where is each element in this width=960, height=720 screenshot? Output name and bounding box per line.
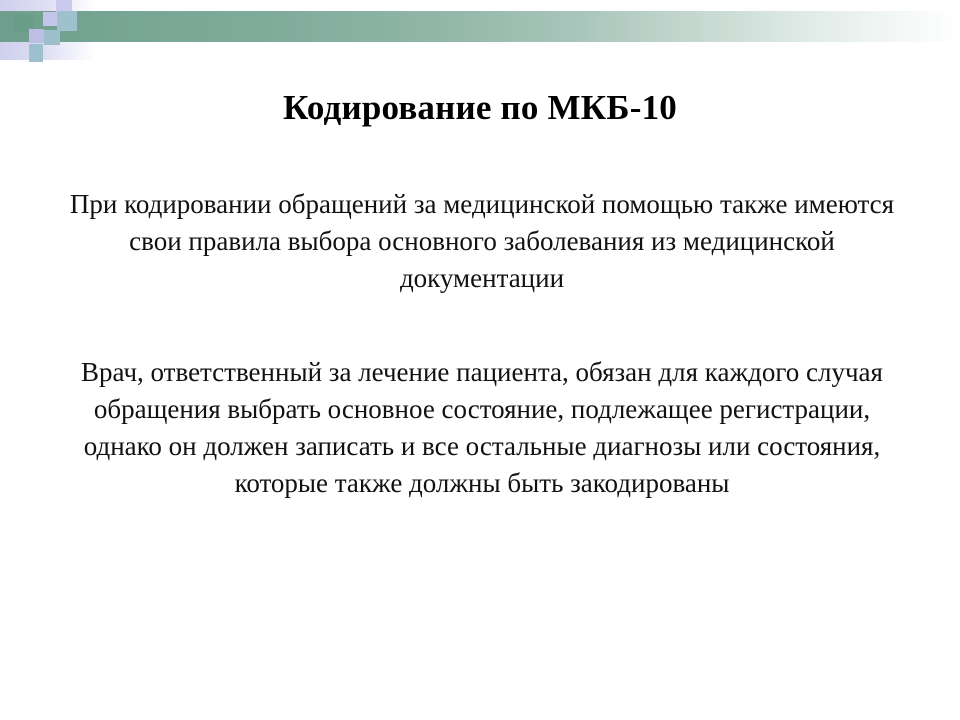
body-paragraph-1: При кодировании обращений за медицинской… bbox=[64, 186, 900, 297]
tile-lavender-mid bbox=[29, 29, 44, 43]
tile-teal-mid bbox=[44, 30, 60, 45]
gradient-bar bbox=[0, 11, 960, 42]
body-paragraph-2: Врач, ответственный за лечение пациента,… bbox=[64, 354, 900, 502]
tile-lavender-upper bbox=[43, 12, 57, 26]
body-text-block: При кодировании обращений за медицинской… bbox=[64, 186, 900, 502]
slide-root: Кодирование по МКБ-10 При кодировании об… bbox=[0, 0, 960, 720]
mosaic-header-band bbox=[0, 0, 960, 72]
tile-teal-low bbox=[29, 44, 43, 62]
tile-teal-upper bbox=[57, 11, 77, 31]
page-title: Кодирование по МКБ-10 bbox=[60, 88, 900, 128]
